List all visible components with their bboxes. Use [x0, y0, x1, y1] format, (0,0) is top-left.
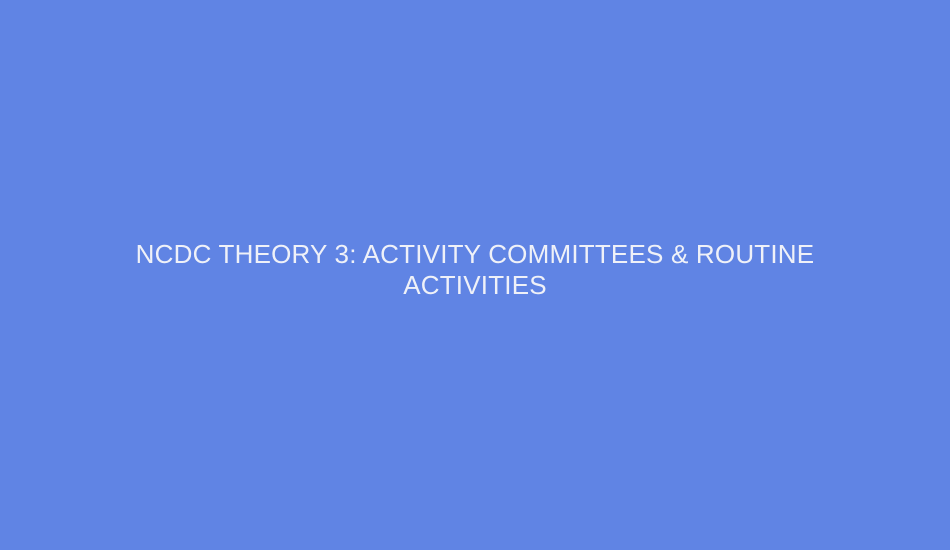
title-block: NCDC THEORY 3: ACTIVITY COMMITTEES & ROU… [95, 239, 855, 301]
page-title: NCDC THEORY 3: ACTIVITY COMMITTEES & ROU… [105, 239, 845, 301]
slide-canvas: NCDC THEORY 3: ACTIVITY COMMITTEES & ROU… [0, 0, 950, 550]
